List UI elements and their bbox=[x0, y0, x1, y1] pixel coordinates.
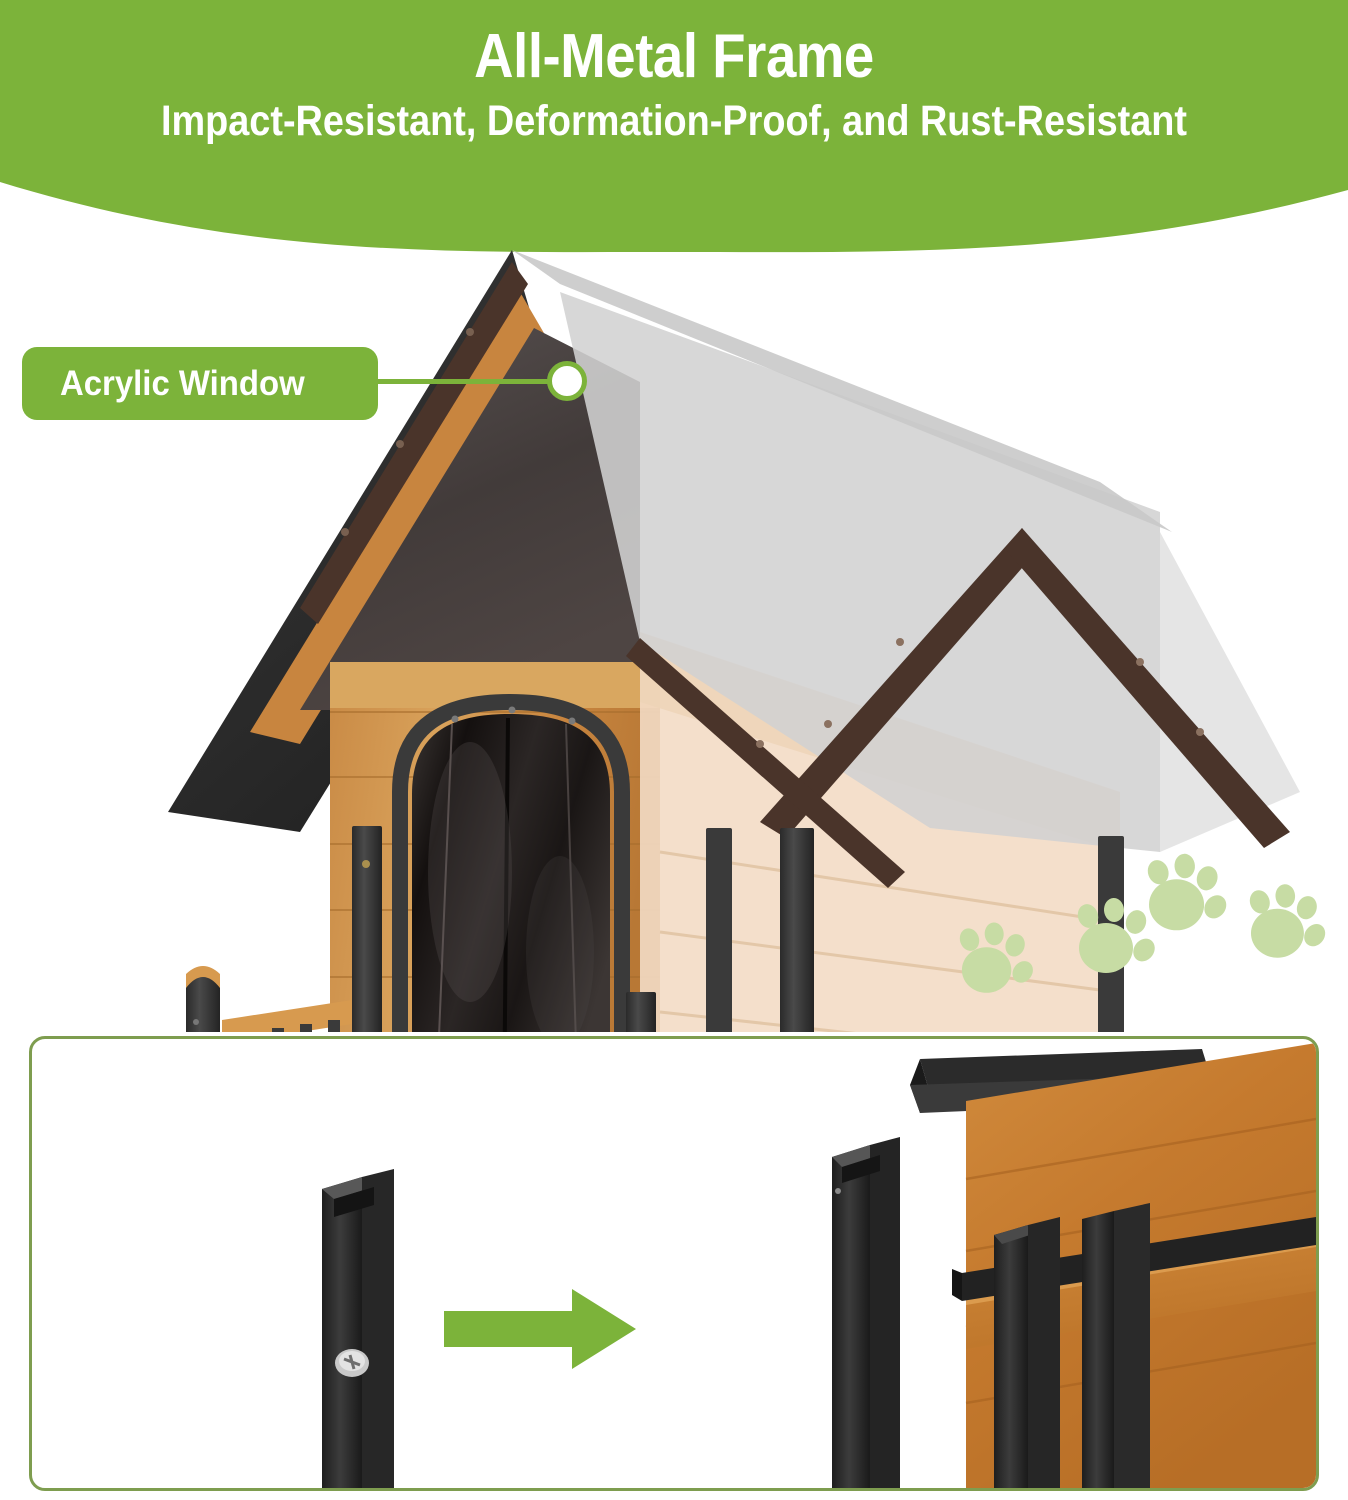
detail-panel bbox=[29, 1036, 1319, 1491]
callout-label: Acrylic Window bbox=[60, 364, 305, 404]
callout-target-dot bbox=[547, 361, 587, 401]
page-title: All-Metal Frame bbox=[81, 26, 1267, 88]
page-subtitle: Impact-Resistant, Deformation-Proof, and… bbox=[81, 98, 1267, 144]
assembly-detail-illustration bbox=[32, 1039, 1316, 1488]
screw-icon bbox=[335, 1349, 369, 1377]
header-banner: All-Metal Frame Impact-Resistant, Deform… bbox=[0, 0, 1348, 260]
loose-post bbox=[322, 1169, 394, 1488]
target-post bbox=[832, 1137, 900, 1488]
callout-acrylic-window[interactable]: Acrylic Window bbox=[22, 347, 378, 420]
assembly-arrow-icon bbox=[444, 1289, 636, 1369]
callout-leader-line bbox=[378, 379, 553, 384]
dog-house-doorway bbox=[400, 702, 622, 1032]
